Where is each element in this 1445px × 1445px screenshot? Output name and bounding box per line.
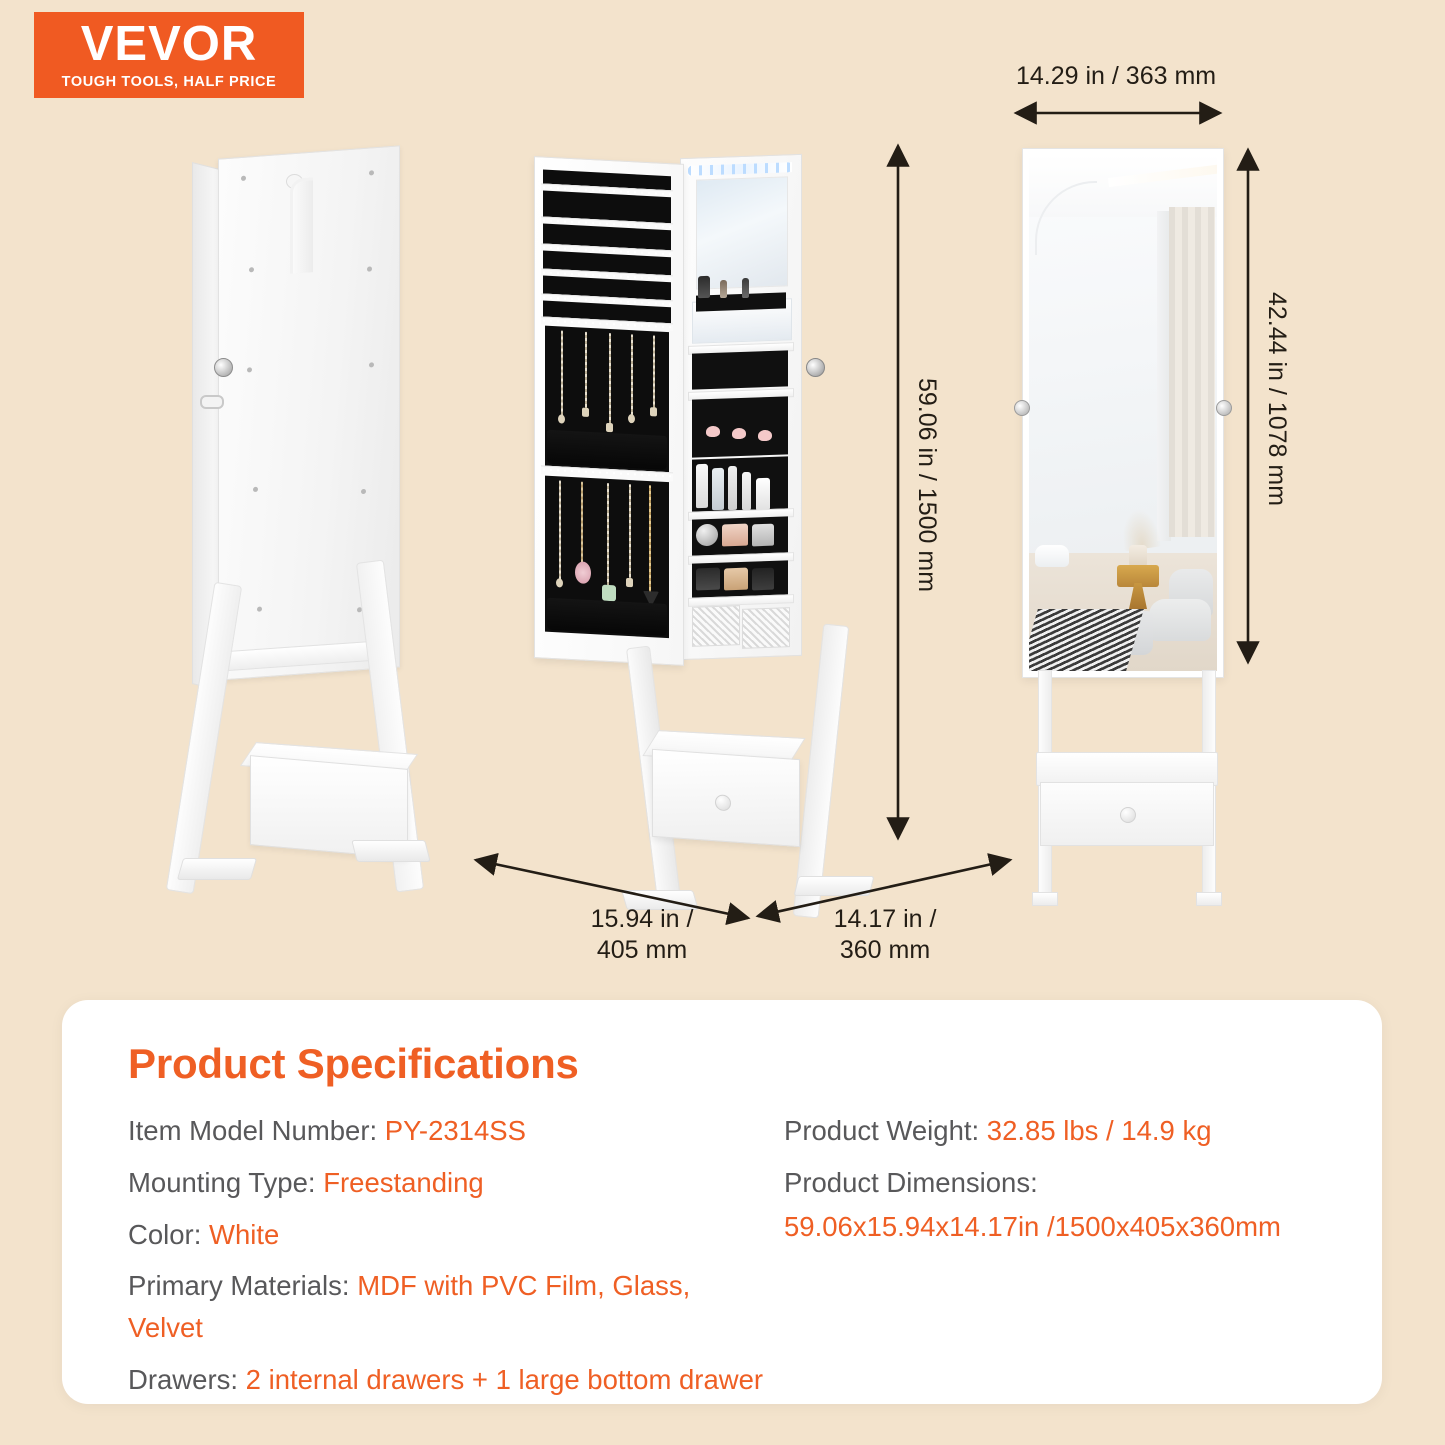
makeup-brush [720,280,727,298]
vevor-logo: VEVOR TOUGH TOOLS, HALF PRICE [34,12,304,98]
lock-icon [214,358,233,377]
spec-column-left: Item Model Number: PY-2314SS Mounting Ty… [128,1110,768,1411]
spec-value-mounting: Freestanding [323,1167,484,1198]
product-view-open [520,148,880,888]
spec-label-dimensions: Product Dimensions: [784,1167,1038,1198]
makeup-brush [742,278,749,298]
dimension-width-arrow [1008,100,1228,126]
depth-right-line1: 14.17 in / [834,905,937,933]
cosmetic-bottle [712,468,724,510]
spec-column-right: Product Weight: 32.85 lbs / 14.9 kg Prod… [784,1110,1384,1257]
spec-label-color: Color: [128,1219,201,1250]
spec-value-weight: 32.85 lbs / 14.9 kg [987,1115,1212,1146]
spec-label-mounting: Mounting Type: [128,1167,316,1198]
palette-box [724,568,748,591]
dimension-depth-left-label: 15.94 in / 405 mm [562,904,722,965]
spec-row-dimensions: Product Dimensions: 59.06x15.94x14.17in … [784,1162,1384,1248]
cosmetic-bottle [696,464,708,508]
spec-label-weight: Product Weight: [784,1115,979,1146]
foot-right [351,840,430,862]
product-specifications-card: Product Specifications Item Model Number… [62,1000,1382,1404]
makeup-brush [698,276,710,298]
hinge-left [1014,400,1030,416]
palette-box [752,568,774,591]
hair-bow [706,426,720,437]
spec-value-color: White [209,1219,279,1250]
bottom-drawer [1040,782,1214,846]
dimension-depth-right-label: 14.17 in / 360 mm [800,904,970,965]
drawer-top-surface [1036,752,1218,786]
hair-bow [732,428,746,439]
velvet-pouch [547,598,667,636]
spec-row-mounting: Mounting Type: Freestanding [128,1162,768,1204]
product-view-front [1012,148,1242,878]
dimension-height-label: 59.06 in / 1500 mm [912,378,941,592]
spec-value-dimensions: 59.06x15.94x14.17in /1500x405x360mm [784,1206,1384,1248]
drawer-knob [1120,807,1136,823]
hair-bow [758,430,772,441]
depth-right-line2: 360 mm [840,936,930,964]
bracelet-tray [692,350,788,389]
cosmetic-bottle [742,472,751,510]
interior-mirror [696,176,788,289]
cosmetic-bottle [728,466,737,510]
spec-row-weight: Product Weight: 32.85 lbs / 14.9 kg [784,1110,1384,1152]
palette-box [752,524,774,547]
spec-row-materials: Primary Materials: MDF with PVC Film, Gl… [128,1265,768,1349]
depth-left-line2: 405 mm [597,936,687,964]
spec-row-color: Color: White [128,1214,768,1256]
cosmetic-jar [756,478,770,510]
mirror-frame [1022,148,1224,678]
brand-tagline: TOUGH TOOLS, HALF PRICE [62,74,277,90]
foot-right [1196,892,1222,906]
spec-value-drawers: 2 internal drawers + 1 large bottom draw… [246,1364,763,1395]
palette-box [722,524,748,547]
dimension-mirror-height-arrow [1236,142,1260,670]
mesh-basket [742,607,790,649]
velvet-pouch [547,430,667,470]
depth-left-line1: 15.94 in / [591,905,694,933]
dimension-width-label: 14.29 in / 363 mm [1016,62,1216,91]
dimension-height-arrow [886,136,910,848]
bottom-drawer [652,749,800,847]
page-title: Product Specifications [128,1040,579,1088]
lock-icon [806,358,825,377]
spec-row-drawers: Drawers: 2 internal drawers + 1 large bo… [128,1359,768,1401]
spec-label-materials: Primary Materials: [128,1270,350,1301]
drawer-knob [715,794,731,811]
wall-hook [290,177,313,274]
product-view-back [178,152,428,882]
key-icon [200,395,224,409]
spec-label-model: Item Model Number: [128,1115,377,1146]
product-spec-sheet: VEVOR TOUGH TOOLS, HALF PRICE [0,0,1445,1445]
spec-label-drawers: Drawers: [128,1364,238,1395]
brand-name: VEVOR [81,20,258,69]
mesh-basket [692,605,740,647]
dimension-mirror-height-label: 42.44 in / 1078 mm [1262,292,1291,506]
spec-value-model: PY-2314SS [385,1115,526,1146]
spec-row-model: Item Model Number: PY-2314SS [128,1110,768,1152]
palette-box [696,568,720,591]
mirror-surface [1029,155,1217,671]
foot-left [177,858,257,880]
foot-left [1032,892,1058,906]
cabinet-door-open [534,156,684,666]
hinge-right [1216,400,1232,416]
